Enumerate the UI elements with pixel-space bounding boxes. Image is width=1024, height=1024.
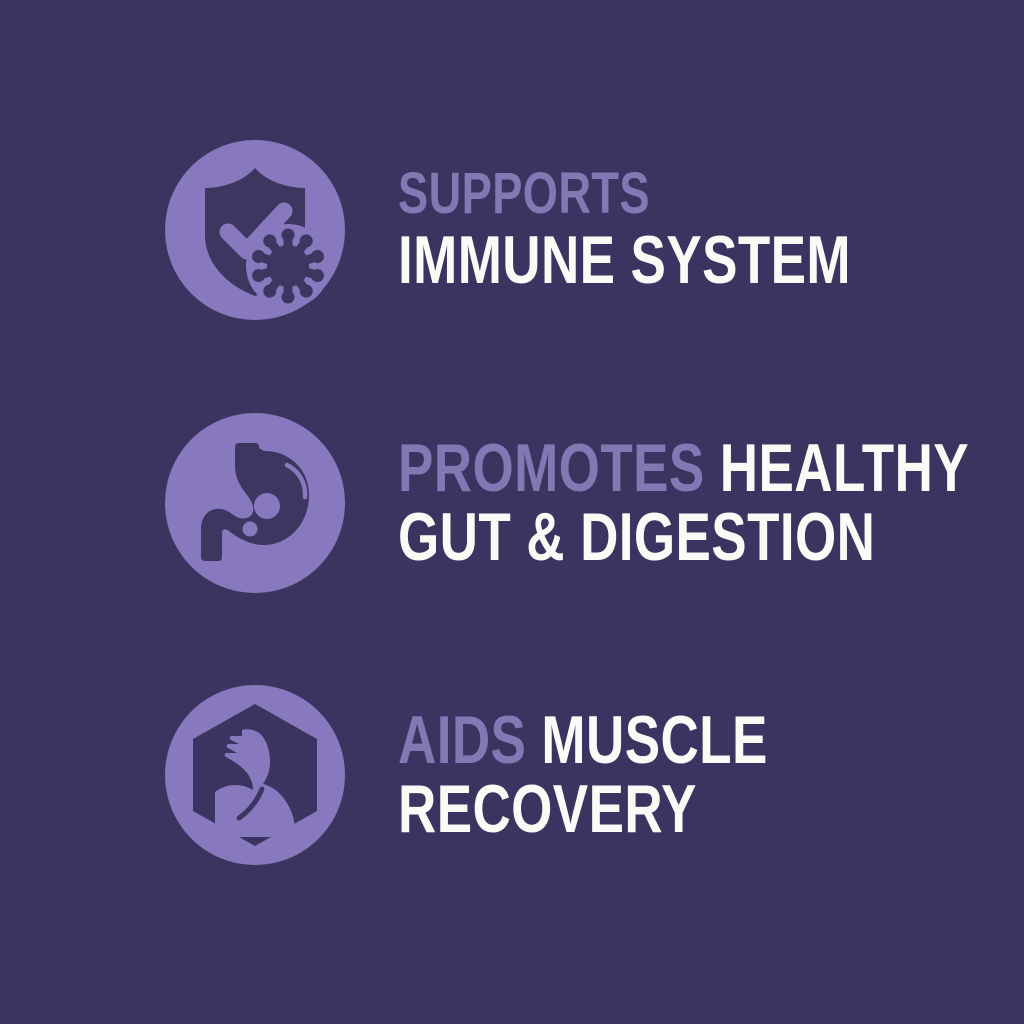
benefits-infographic: SUPPORTS IMMUNE SYSTEM PROMOTES HEALTHY: [0, 0, 1024, 1024]
benefit-accent-text-immune: SUPPORTS: [398, 164, 866, 223]
stomach-digestion-icon: [165, 413, 345, 593]
benefit-row-immune-system: SUPPORTS IMMUNE SYSTEM: [0, 140, 1024, 340]
benefit-main-text-immune: IMMUNE SYSTEM: [398, 226, 866, 295]
benefit-line-1-gut: PROMOTES HEALTHY: [398, 434, 866, 503]
benefit-text-muscle-recovery: AIDS MUSCLE RECOVERY: [398, 685, 998, 865]
benefit-main-text-muscle-line2: RECOVERY: [398, 771, 697, 847]
benefit-main-text-gut-line1: HEALTHY: [720, 430, 969, 506]
benefit-text-gut-digestion: PROMOTES HEALTHY GUT & DIGESTION: [398, 413, 998, 593]
benefit-accent-text-muscle: AIDS: [398, 702, 526, 778]
benefit-main-text-muscle-line1: MUSCLE: [541, 702, 767, 778]
benefit-main-text-gut-line2: GUT & DIGESTION: [398, 499, 875, 575]
benefit-row-gut-digestion: PROMOTES HEALTHY GUT & DIGESTION: [0, 413, 1024, 613]
benefit-row-muscle-recovery: AIDS MUSCLE RECOVERY: [0, 685, 1024, 885]
benefit-line-2-gut: GUT & DIGESTION: [398, 503, 866, 572]
flexed-biceps-hexagon-icon: [165, 685, 345, 865]
benefit-line-2-muscle: RECOVERY: [398, 775, 866, 844]
benefit-line-1-muscle: AIDS MUSCLE: [398, 706, 866, 775]
benefit-text-immune-system: SUPPORTS IMMUNE SYSTEM: [398, 140, 998, 320]
shield-check-virus-icon: [165, 140, 345, 320]
benefit-accent-text-gut: PROMOTES: [398, 430, 705, 506]
